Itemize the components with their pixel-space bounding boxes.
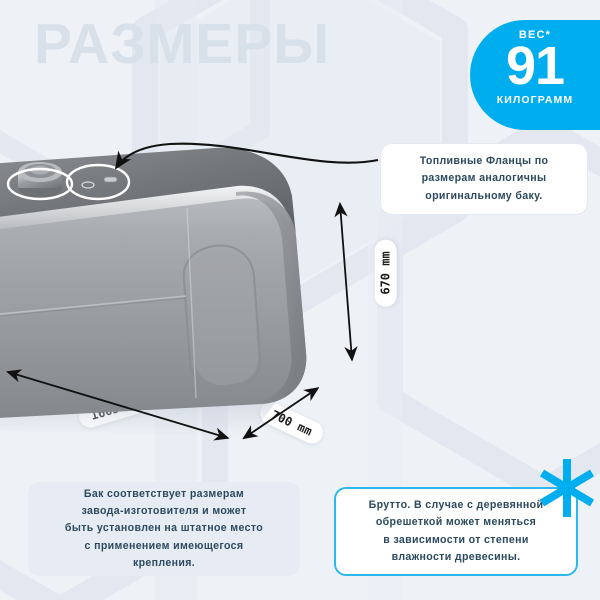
note-fitment-line-5: крепления. xyxy=(65,555,263,572)
depth-dimension-line xyxy=(244,388,318,438)
height-dimension-line xyxy=(340,204,352,360)
callout-flanges-line-2: размерам аналогичны xyxy=(420,170,549,187)
note-fitment-line-3: быть установлен на штатное место xyxy=(65,520,263,537)
callout-flanges-line-1: Топливные Фланцы по xyxy=(420,153,549,170)
flange-leader-line xyxy=(116,144,378,168)
length-dimension-line xyxy=(8,372,228,438)
asterisk-icon xyxy=(536,457,598,519)
callout-flanges: Топливные Фланцы по размерам аналогичны … xyxy=(380,143,588,215)
note-gross-weight-line-3: в зависимости от степени xyxy=(369,532,544,549)
note-gross-weight-line-4: влажности древесины. xyxy=(369,549,544,566)
note-fitment-line-4: с применением имеющегося xyxy=(65,538,263,555)
note-gross-weight-line-1: Брутто. В случае с деревянной xyxy=(369,497,544,514)
infographic-canvas: РАЗМЕРЫ ВЕС* 91 КИЛОГРАММ xyxy=(0,0,600,600)
callout-flanges-line-3: оригинальному баку. xyxy=(420,188,549,205)
note-fitment: Бак соответствует размерам завода-изгото… xyxy=(28,482,300,576)
note-fitment-line-1: Бак соответствует размерам xyxy=(65,486,263,503)
note-fitment-line-2: завода-изготовителя и может xyxy=(65,503,263,520)
note-gross-weight-line-2: обрешеткой может меняться xyxy=(369,514,544,531)
